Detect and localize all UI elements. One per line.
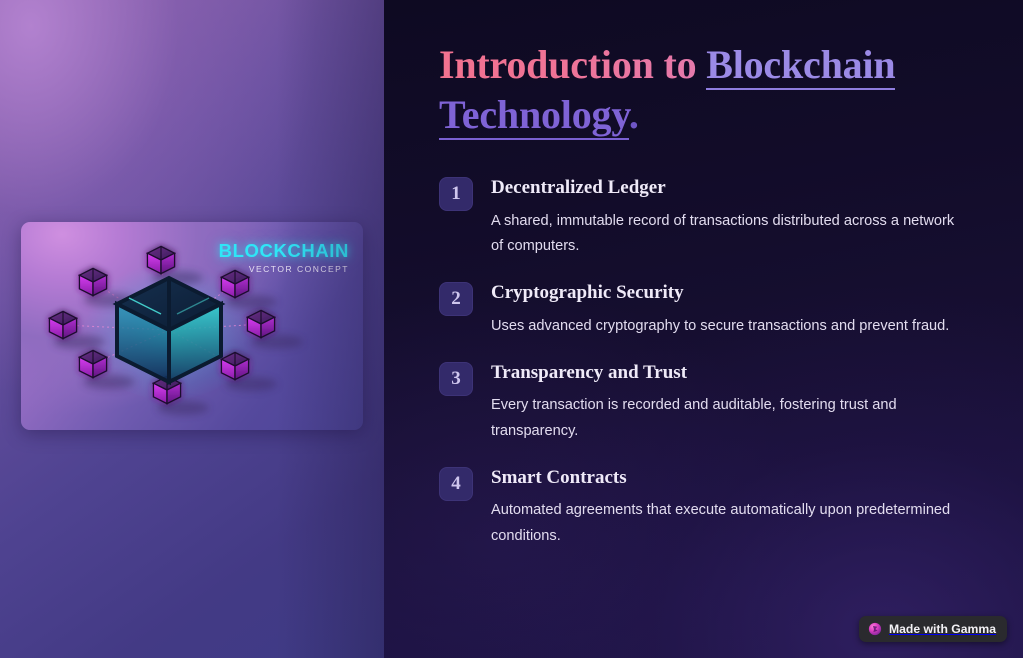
feature-description: Every transaction is recorded and audita… — [491, 393, 961, 443]
made-with-gamma-badge[interactable]: Made with Gamma — [859, 616, 1007, 642]
feature-description: Automated agreements that execute automa… — [491, 498, 961, 548]
feature-number-badge: 3 — [439, 362, 473, 396]
illustration-wordmark-subtitle: VECTOR CONCEPT — [219, 265, 349, 274]
page-title-highlight-blockchain: Blockchain — [706, 42, 895, 90]
list-item: 1 Decentralized Ledger A shared, immutab… — [439, 177, 965, 259]
slide-content-panel: Introduction to Blockchain Technology. 1… — [384, 0, 1023, 658]
feature-title: Smart Contracts — [491, 467, 965, 490]
feature-number-badge: 1 — [439, 177, 473, 211]
slide-left-panel: BLOCKCHAIN VECTOR CONCEPT — [0, 0, 384, 658]
list-item: 2 Cryptographic Security Uses advanced c… — [439, 282, 965, 339]
page-title: Introduction to Blockchain Technology. — [439, 40, 959, 141]
feature-title: Transparency and Trust — [491, 362, 965, 385]
feature-description: Uses advanced cryptography to secure tra… — [491, 314, 961, 339]
list-item: 3 Transparency and Trust Every transacti… — [439, 362, 965, 444]
feature-description: A shared, immutable record of transactio… — [491, 209, 961, 259]
feature-title: Cryptographic Security — [491, 282, 965, 305]
feature-list: 1 Decentralized Ledger A shared, immutab… — [439, 177, 965, 549]
made-with-gamma-label: Made with Gamma — [889, 622, 996, 636]
page-title-trailing: . — [629, 92, 639, 137]
feature-number-badge: 2 — [439, 282, 473, 316]
blockchain-illustration-card: BLOCKCHAIN VECTOR CONCEPT — [21, 222, 363, 430]
illustration-wordmark: BLOCKCHAIN VECTOR CONCEPT — [219, 242, 349, 273]
illustration-wordmark-title: BLOCKCHAIN — [219, 242, 349, 261]
list-item: 4 Smart Contracts Automated agreements t… — [439, 467, 965, 549]
page-title-highlight-technology: Technology — [439, 92, 629, 140]
presentation-slide: BLOCKCHAIN VECTOR CONCEPT Introduction t… — [0, 0, 1023, 658]
page-title-lead: Introduction to — [439, 42, 706, 87]
gamma-logo-icon — [868, 622, 882, 636]
feature-title: Decentralized Ledger — [491, 177, 965, 200]
feature-number-badge: 4 — [439, 467, 473, 501]
